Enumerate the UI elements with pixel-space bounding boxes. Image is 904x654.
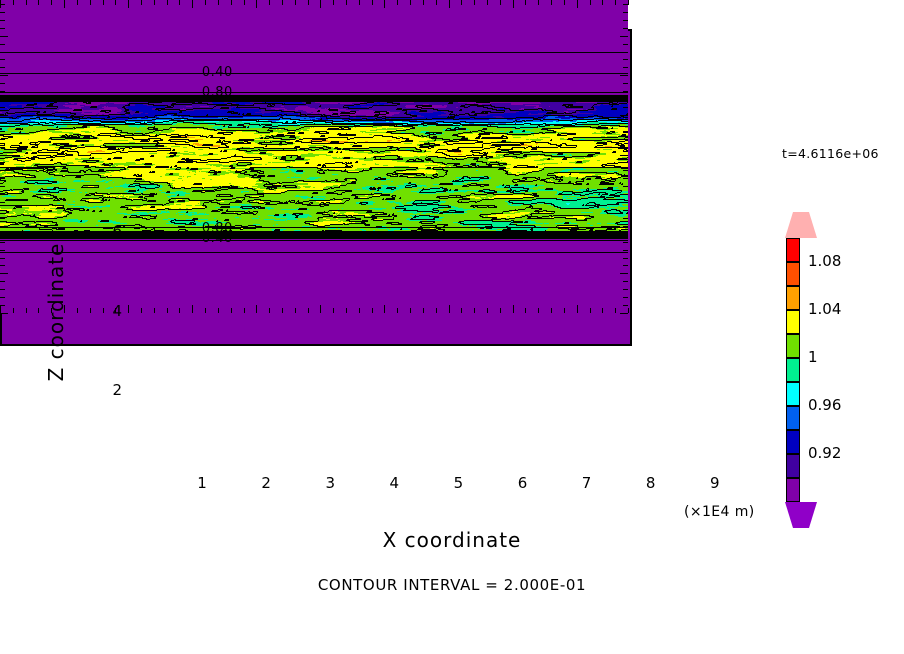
y-tick xyxy=(0,115,8,116)
y-tick xyxy=(623,162,628,163)
colorbar-label: 1.08 xyxy=(808,252,841,270)
x-tick xyxy=(205,308,206,313)
x-tick xyxy=(564,0,565,5)
x-tick xyxy=(103,0,104,5)
x-tick xyxy=(590,308,591,313)
y-tick xyxy=(623,186,628,187)
x-tick xyxy=(192,305,193,313)
colorbar-bottom-arrow xyxy=(785,502,817,528)
x-tick xyxy=(13,0,14,5)
y-tick xyxy=(623,67,628,68)
x-tick xyxy=(128,305,129,313)
y-tick xyxy=(0,210,5,211)
x-tick xyxy=(77,308,78,313)
y-tick xyxy=(623,131,628,132)
x-tick xyxy=(333,0,334,5)
y-tick xyxy=(0,234,8,235)
y-tick xyxy=(0,289,5,290)
x-tick xyxy=(308,308,309,313)
y-tick xyxy=(623,258,628,259)
x-tick-label: 8 xyxy=(631,474,671,492)
x-tick xyxy=(513,0,514,8)
x-tick-label: 5 xyxy=(438,474,478,492)
y-tick xyxy=(620,115,628,116)
colorbar-band xyxy=(786,286,800,310)
y-tick xyxy=(0,139,5,140)
x-tick xyxy=(128,0,129,8)
x-tick xyxy=(487,308,488,313)
y-tick-label: 6 xyxy=(96,222,122,240)
y-tick xyxy=(623,170,628,171)
x-tick xyxy=(577,305,578,313)
x-tick xyxy=(436,0,437,5)
timestamp-label: t=4.6116e+06 xyxy=(782,146,879,161)
x-tick-label: 3 xyxy=(310,474,350,492)
y-tick xyxy=(0,305,5,306)
x-tick xyxy=(513,305,514,313)
x-tick xyxy=(564,308,565,313)
y-tick xyxy=(0,147,5,148)
y-tick-label: 4 xyxy=(96,302,122,320)
y-tick xyxy=(623,83,628,84)
contour-canvas xyxy=(0,0,628,313)
y-tick xyxy=(0,67,5,68)
x-tick xyxy=(64,0,65,8)
x-tick xyxy=(615,0,616,5)
x-tick xyxy=(525,308,526,313)
y-tick xyxy=(0,242,5,243)
y-tick xyxy=(623,242,628,243)
y-tick xyxy=(620,155,628,156)
y-tick xyxy=(0,273,8,274)
y-tick xyxy=(623,218,628,219)
colorbar-label: 1.04 xyxy=(808,300,841,318)
colorbar-band xyxy=(786,334,800,358)
x-tick-label: 4 xyxy=(374,474,414,492)
x-tick xyxy=(577,0,578,8)
x-tick xyxy=(256,305,257,313)
y-tick xyxy=(0,155,8,156)
y-tick xyxy=(623,4,628,5)
y-tick xyxy=(623,226,628,227)
x-tick xyxy=(308,0,309,5)
y-tick xyxy=(623,12,628,13)
y-tick xyxy=(623,28,628,29)
contour-interval-caption: CONTOUR INTERVAL = 2.000E-01 xyxy=(0,576,904,594)
y-tick xyxy=(0,44,5,45)
y-axis-title: Z coordinate xyxy=(44,222,68,402)
x-tick-label: 2 xyxy=(246,474,286,492)
x-tick xyxy=(628,308,629,313)
colorbar-band xyxy=(786,430,800,454)
y-tick xyxy=(0,265,5,266)
x-tick xyxy=(423,308,424,313)
x-tick xyxy=(487,0,488,5)
y-tick xyxy=(0,83,5,84)
y-tick xyxy=(623,99,628,100)
x-tick xyxy=(500,308,501,313)
x-tick-label: 9 xyxy=(695,474,735,492)
x-tick xyxy=(346,308,347,313)
x-tick xyxy=(590,0,591,5)
x-tick xyxy=(26,0,27,5)
x-tick xyxy=(231,308,232,313)
x-tick xyxy=(333,308,334,313)
y-tick xyxy=(0,297,5,298)
y-tick xyxy=(0,162,5,163)
y-tick xyxy=(0,178,5,179)
colorbar-band xyxy=(786,238,800,262)
x-tick xyxy=(346,0,347,5)
y-tick xyxy=(623,20,628,21)
y-tick xyxy=(620,194,628,195)
y-tick xyxy=(623,281,628,282)
y-tick xyxy=(0,258,5,259)
x-tick xyxy=(154,308,155,313)
x-tick xyxy=(602,0,603,5)
x-tick xyxy=(474,0,475,5)
x-tick xyxy=(372,0,373,5)
x-tick xyxy=(179,0,180,5)
x-tick xyxy=(359,308,360,313)
x-tick xyxy=(615,308,616,313)
x-tick xyxy=(179,308,180,313)
x-tick-label: 7 xyxy=(567,474,607,492)
x-tick xyxy=(320,305,321,313)
contour-value-label: 0.40 xyxy=(202,231,233,246)
y-tick xyxy=(620,313,628,314)
x-axis-title: X coordinate xyxy=(0,528,904,552)
y-tick xyxy=(623,250,628,251)
x-tick xyxy=(295,308,296,313)
x-tick xyxy=(218,0,219,5)
y-tick xyxy=(0,186,5,187)
y-tick xyxy=(623,147,628,148)
x-tick xyxy=(461,308,462,313)
y-tick xyxy=(0,12,5,13)
x-tick xyxy=(218,308,219,313)
colorbar-band xyxy=(786,454,800,478)
y-tick xyxy=(0,202,5,203)
x-tick xyxy=(359,0,360,5)
y-tick xyxy=(0,131,5,132)
y-tick xyxy=(623,123,628,124)
x-tick xyxy=(269,308,270,313)
x-tick xyxy=(397,0,398,5)
x-tick xyxy=(244,0,245,5)
x-tick xyxy=(38,308,39,313)
colorbar-band xyxy=(786,358,800,382)
y-tick xyxy=(0,52,5,53)
y-tick xyxy=(623,265,628,266)
colorbar-band xyxy=(786,382,800,406)
x-tick xyxy=(449,305,450,313)
y-tick xyxy=(0,170,5,171)
x-tick xyxy=(538,0,539,5)
x-tick xyxy=(231,0,232,5)
y-tick xyxy=(0,4,5,5)
y-tick xyxy=(0,218,5,219)
colorbar-band xyxy=(786,406,800,430)
y-tick-label: 2 xyxy=(96,381,122,399)
x-tick xyxy=(0,305,1,313)
x-tick xyxy=(269,0,270,5)
x-tick xyxy=(90,308,91,313)
x-tick xyxy=(13,308,14,313)
y-tick xyxy=(0,20,5,21)
y-tick xyxy=(623,52,628,53)
y-tick xyxy=(0,75,8,76)
x-tick xyxy=(602,308,603,313)
x-tick xyxy=(372,308,373,313)
x-tick xyxy=(154,0,155,5)
colorbar-label: 0.96 xyxy=(808,396,841,414)
y-tick xyxy=(0,281,5,282)
y-tick xyxy=(0,250,5,251)
y-tick xyxy=(0,194,8,195)
y-tick xyxy=(623,139,628,140)
y-tick xyxy=(623,178,628,179)
x-tick xyxy=(90,0,91,5)
x-tick xyxy=(141,0,142,5)
x-tick xyxy=(551,308,552,313)
y-tick xyxy=(0,107,5,108)
colorbar-label: 0.92 xyxy=(808,444,841,462)
x-tick xyxy=(461,0,462,5)
x-tick-label: 1 xyxy=(182,474,222,492)
x-tick xyxy=(205,0,206,5)
colorbar-top-arrow xyxy=(785,212,817,238)
x-tick xyxy=(167,308,168,313)
x-tick xyxy=(410,308,411,313)
x-tick xyxy=(449,0,450,8)
x-tick xyxy=(244,308,245,313)
x-tick-label: 6 xyxy=(502,474,542,492)
x-tick xyxy=(397,308,398,313)
x-tick xyxy=(551,0,552,5)
y-tick xyxy=(623,44,628,45)
x-tick xyxy=(500,0,501,5)
x-tick xyxy=(282,0,283,5)
y-tick xyxy=(620,36,628,37)
bottom-units-label: (×1E4 m) xyxy=(684,504,755,520)
contour-value-label: 0.40 xyxy=(202,65,233,80)
colorbar-band xyxy=(786,310,800,334)
x-tick xyxy=(282,308,283,313)
colorbar-label: 1 xyxy=(808,348,818,366)
x-tick xyxy=(436,308,437,313)
x-tick xyxy=(26,308,27,313)
x-tick xyxy=(474,308,475,313)
x-tick xyxy=(77,0,78,5)
y-tick xyxy=(623,91,628,92)
x-tick xyxy=(167,0,168,5)
y-tick xyxy=(623,289,628,290)
x-tick xyxy=(192,0,193,8)
x-tick xyxy=(538,308,539,313)
x-tick xyxy=(320,0,321,8)
y-tick xyxy=(0,91,5,92)
y-tick xyxy=(620,234,628,235)
x-tick xyxy=(51,0,52,5)
y-tick xyxy=(623,59,628,60)
x-tick xyxy=(525,0,526,5)
y-tick xyxy=(623,210,628,211)
contour-field xyxy=(0,0,628,313)
x-tick xyxy=(384,0,385,8)
y-tick xyxy=(623,107,628,108)
y-tick xyxy=(623,297,628,298)
y-tick xyxy=(0,28,5,29)
x-tick xyxy=(115,0,116,5)
y-tick xyxy=(620,75,628,76)
x-tick xyxy=(256,0,257,8)
x-tick xyxy=(628,0,629,5)
contour-plot: 0.400.800.800.40 xyxy=(0,29,632,346)
x-tick xyxy=(423,0,424,5)
x-tick xyxy=(410,0,411,5)
colorbar-band xyxy=(786,262,800,286)
x-tick xyxy=(384,305,385,313)
y-tick xyxy=(620,273,628,274)
y-tick xyxy=(0,36,8,37)
x-tick xyxy=(38,0,39,5)
y-tick xyxy=(623,202,628,203)
y-tick xyxy=(0,59,5,60)
y-tick xyxy=(0,313,8,314)
x-tick xyxy=(141,308,142,313)
x-tick xyxy=(295,0,296,5)
contour-value-label: 0.80 xyxy=(202,85,233,100)
y-tick xyxy=(0,226,5,227)
colorbar: 1.081.0410.960.92 xyxy=(786,212,800,505)
y-tick xyxy=(0,99,5,100)
y-tick xyxy=(0,123,5,124)
y-tick xyxy=(623,305,628,306)
colorbar-band xyxy=(786,478,800,502)
